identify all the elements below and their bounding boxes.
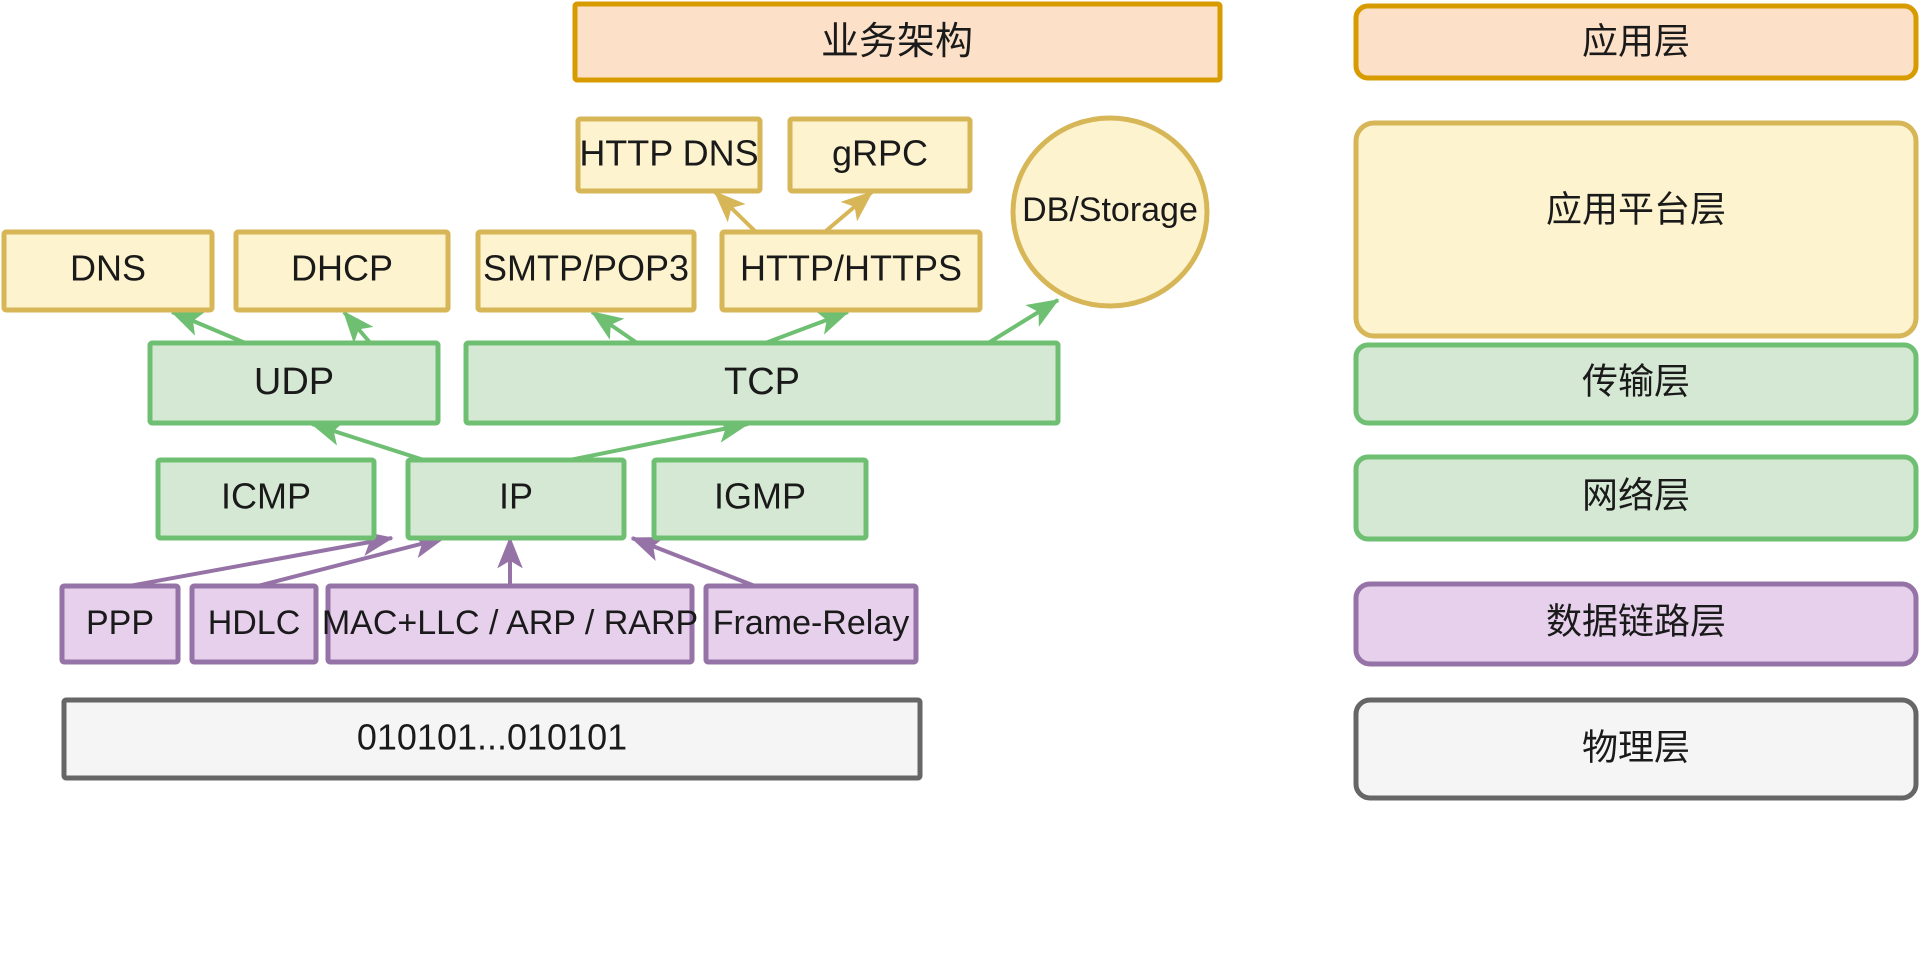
node-grpc[interactable]: gRPC bbox=[790, 119, 970, 191]
node-hdlc[interactable]: HDLC bbox=[192, 586, 316, 662]
node-smtp-pop3[interactable]: SMTP/POP3 bbox=[478, 232, 694, 310]
mac-llc-label: MAC+LLC / ARP / RARP bbox=[322, 604, 698, 642]
legend-item-datalink[interactable]: 数据链路层 bbox=[1356, 584, 1916, 664]
tcp-label: TCP bbox=[724, 361, 800, 403]
physical-layer-label: 010101...010101 bbox=[357, 717, 627, 758]
connector-tcp-to-http bbox=[760, 312, 848, 345]
legend-item-network[interactable]: 网络层 bbox=[1356, 457, 1916, 539]
legend-item-application[interactable]: 应用层 bbox=[1356, 6, 1916, 78]
connector-http-to-httpdns bbox=[715, 192, 760, 236]
node-ip[interactable]: IP bbox=[408, 460, 624, 538]
node-frame-relay[interactable]: Frame-Relay bbox=[706, 586, 916, 662]
igmp-label: IGMP bbox=[714, 476, 806, 517]
legend-transport-label: 传输层 bbox=[1582, 361, 1690, 402]
icmp-label: ICMP bbox=[221, 476, 311, 517]
node-ppp[interactable]: PPP bbox=[62, 586, 178, 662]
node-http-dns[interactable]: HTTP DNS bbox=[578, 119, 760, 191]
ppp-label: PPP bbox=[86, 604, 154, 642]
connector-ip-to-udp bbox=[312, 424, 430, 462]
node-db-storage[interactable]: DB/Storage bbox=[1013, 118, 1207, 306]
connector-udp-to-dns bbox=[172, 312, 250, 345]
connector-framerelay-to-ip bbox=[632, 538, 760, 588]
legend-application-platform-label: 应用平台层 bbox=[1546, 189, 1726, 230]
udp-label: UDP bbox=[254, 361, 334, 403]
node-tcp[interactable]: TCP bbox=[466, 343, 1058, 423]
legend-item-transport[interactable]: 传输层 bbox=[1356, 345, 1916, 423]
legend-physical-label: 物理层 bbox=[1582, 727, 1690, 768]
connector-udp-to-dhcp bbox=[344, 312, 372, 345]
dns-label: DNS bbox=[70, 248, 146, 289]
dhcp-label: DHCP bbox=[291, 248, 393, 289]
http-https-label: HTTP/HTTPS bbox=[740, 248, 962, 289]
legend-application-label: 应用层 bbox=[1582, 21, 1690, 62]
connector-http-to-grpc bbox=[820, 192, 872, 236]
smtp-pop3-label: SMTP/POP3 bbox=[483, 248, 689, 289]
hdlc-label: HDLC bbox=[208, 604, 301, 642]
legend-network-label: 网络层 bbox=[1582, 475, 1690, 516]
business-architecture-label: 业务架构 bbox=[821, 21, 973, 63]
grpc-label: gRPC bbox=[832, 133, 928, 174]
legend-item-application-platform[interactable]: 应用平台层 bbox=[1356, 123, 1916, 336]
http-dns-label: HTTP DNS bbox=[579, 133, 758, 174]
protocol-stack-diagram: 业务架构 HTTP DNS gRPC DB/Storage DNS DHCP S… bbox=[0, 0, 1920, 956]
node-dns[interactable]: DNS bbox=[4, 232, 212, 310]
legend-item-physical[interactable]: 物理层 bbox=[1356, 700, 1916, 798]
node-dhcp[interactable]: DHCP bbox=[236, 232, 448, 310]
connector-tcp-to-smtp bbox=[592, 312, 640, 345]
node-igmp[interactable]: IGMP bbox=[654, 460, 866, 538]
frame-relay-label: Frame-Relay bbox=[713, 604, 909, 642]
legend-datalink-label: 数据链路层 bbox=[1546, 601, 1726, 642]
ip-label: IP bbox=[499, 476, 533, 517]
node-udp[interactable]: UDP bbox=[150, 343, 438, 423]
node-http-https[interactable]: HTTP/HTTPS bbox=[722, 232, 980, 310]
connector-ip-to-tcp bbox=[560, 424, 748, 462]
node-mac-llc[interactable]: MAC+LLC / ARP / RARP bbox=[322, 586, 698, 662]
connector-tcp-to-db bbox=[985, 300, 1058, 345]
node-icmp[interactable]: ICMP bbox=[158, 460, 374, 538]
db-storage-label: DB/Storage bbox=[1022, 191, 1198, 229]
node-physical-layer[interactable]: 010101...010101 bbox=[64, 700, 920, 778]
node-business-architecture[interactable]: 业务架构 bbox=[575, 4, 1220, 80]
